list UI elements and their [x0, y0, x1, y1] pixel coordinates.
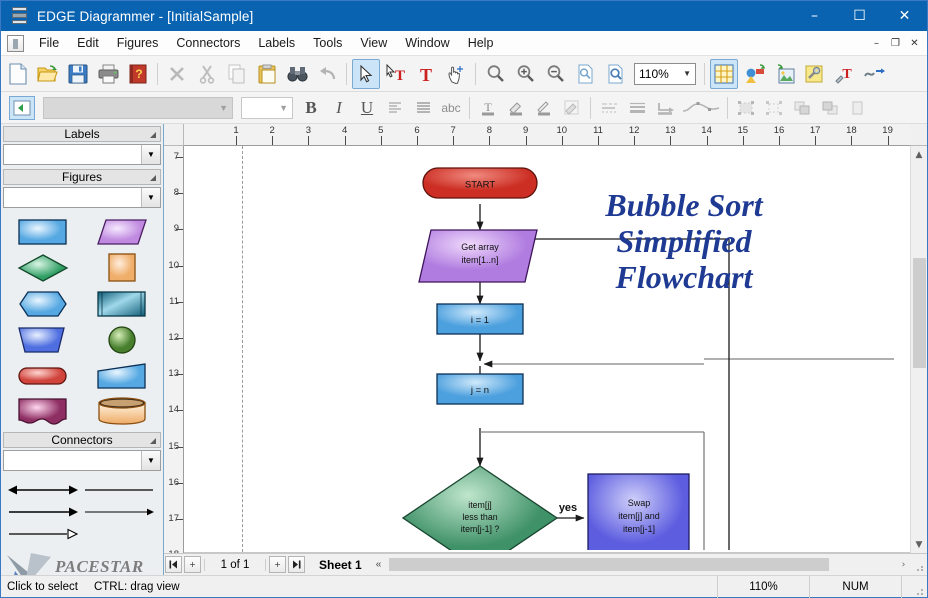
delete-icon[interactable]: [163, 59, 191, 89]
svg-text:Swap: Swap: [628, 498, 651, 508]
align-objects-icon[interactable]: [845, 95, 871, 121]
ruler-row: 1234567891011121314151617181920: [164, 124, 927, 146]
node-j-init: j = n: [437, 374, 523, 404]
flow-icon[interactable]: [860, 59, 888, 89]
pacestar-name: PACESTAR: [55, 557, 144, 577]
ungroup-icon[interactable]: [761, 95, 787, 121]
connector-open-arrow[interactable]: [7, 527, 83, 541]
send-back-icon[interactable]: [817, 95, 843, 121]
text-tool-icon[interactable]: T: [412, 59, 440, 89]
connector-thin-arrow[interactable]: [83, 505, 159, 519]
app-icon: [9, 5, 31, 27]
scroll-right-button[interactable]: ›: [896, 560, 911, 570]
connectors-panel-header[interactable]: Connectors: [3, 432, 161, 448]
figure-cylinder-orange[interactable]: [82, 394, 161, 430]
chevron-down-icon: ▼: [683, 69, 691, 78]
last-page-button[interactable]: [288, 556, 305, 573]
node-start: START: [423, 168, 537, 198]
print-icon[interactable]: [94, 59, 122, 89]
figure-rectangle-blue[interactable]: [3, 214, 82, 250]
back-icon[interactable]: [9, 96, 35, 120]
add-page-before-button[interactable]: +: [184, 556, 201, 573]
svg-text:item[1..n]: item[1..n]: [461, 255, 498, 265]
maximize-button[interactable]: ☐: [837, 1, 882, 31]
properties-icon[interactable]: [800, 59, 828, 89]
zoom-fit-icon[interactable]: [601, 59, 629, 89]
help-book-icon[interactable]: ?: [124, 59, 152, 89]
minimize-button[interactable]: –: [792, 1, 837, 31]
svg-text:j = n: j = n: [470, 385, 489, 396]
svg-text:T: T: [484, 100, 492, 114]
svg-text:?: ?: [135, 67, 142, 81]
zoom-icon[interactable]: [481, 59, 509, 89]
save-icon[interactable]: [64, 59, 92, 89]
figures-combo[interactable]: ▼: [3, 187, 161, 208]
close-button[interactable]: ✕: [882, 1, 927, 31]
diagram-title-line-2: Simplified: [534, 224, 834, 260]
toolbar-separator: [157, 63, 158, 85]
copy-icon[interactable]: [223, 59, 251, 89]
svg-text:T: T: [842, 67, 852, 82]
line-color-icon[interactable]: [531, 95, 557, 121]
align-left-icon[interactable]: [382, 95, 408, 121]
main-body: Labels ▼ Figures ▼: [1, 124, 927, 575]
color-combo[interactable]: ▼: [241, 97, 293, 119]
connectors-combo[interactable]: ▼: [3, 450, 161, 471]
labels-combo[interactable]: ▼: [3, 144, 161, 165]
find-icon[interactable]: [283, 59, 311, 89]
menu-help[interactable]: Help: [459, 33, 503, 53]
application-window: EDGE Diagrammer - [InitialSample] – ☐ ✕ …: [0, 0, 928, 598]
status-zoom: 110%: [717, 576, 809, 598]
page-count-label: 1 of 1: [204, 559, 266, 571]
svg-text:i = 1: i = 1: [471, 315, 489, 326]
figure-document-magenta[interactable]: [3, 394, 82, 430]
line-weight-icon[interactable]: [624, 95, 650, 121]
diagram-title[interactable]: Bubble Sort Simplified Flowchart: [534, 188, 834, 295]
figures-panel-header[interactable]: Figures: [3, 169, 161, 185]
toolbar-separator: [346, 63, 347, 85]
figure-hexagon-blue[interactable]: [3, 286, 82, 322]
figure-parallelogram-purple[interactable]: [82, 214, 161, 250]
palette-sidebar: Labels ▼ Figures ▼: [1, 124, 164, 575]
toolbar-separator: [727, 97, 728, 119]
toolbar-separator: [475, 63, 476, 85]
menu-tools[interactable]: Tools: [304, 33, 351, 53]
menu-edit[interactable]: Edit: [68, 33, 108, 53]
svg-text:item[j-1]: item[j-1]: [623, 524, 655, 534]
ruler-spacer: [910, 124, 927, 146]
canvas-area: 1234567891011121314151617181920 78910111…: [164, 124, 927, 575]
line-style-dashed-icon[interactable]: [596, 95, 622, 121]
horizontal-scrollbar[interactable]: ›: [389, 557, 911, 572]
diagram-title-line-1: Bubble Sort: [534, 188, 834, 224]
mdi-restore-button[interactable]: ❐: [887, 35, 904, 52]
fill-color-icon[interactable]: [503, 95, 529, 121]
curve-icon[interactable]: [680, 95, 722, 121]
connector-single-arrow[interactable]: [7, 505, 83, 519]
text-select-icon[interactable]: T: [382, 59, 410, 89]
undo-icon[interactable]: [313, 59, 341, 89]
svg-text:T: T: [420, 65, 432, 84]
zoom-page-icon[interactable]: [571, 59, 599, 89]
cut-icon[interactable]: [193, 59, 221, 89]
mdi-window-controls: – ❐ ✕: [866, 35, 927, 52]
svg-text:item[j]: item[j]: [468, 500, 491, 510]
svg-text:item[j-1] ?: item[j-1] ?: [461, 524, 500, 534]
menu-bar: File Edit Figures Connectors Labels Tool…: [1, 31, 927, 56]
select-pointer-icon[interactable]: [352, 59, 380, 89]
paste-icon[interactable]: [253, 59, 281, 89]
node-compare: item[j] less than item[j-1] ?: [403, 466, 557, 550]
figure-square-orange[interactable]: [82, 250, 161, 286]
italic-button[interactable]: I: [326, 95, 352, 121]
vertical-scroll-track[interactable]: [911, 163, 928, 536]
horizontal-ruler[interactable]: 1234567891011121314151617181920: [184, 124, 910, 146]
scroll-up-button[interactable]: ▲: [911, 146, 928, 163]
figure-slanted-rect-blue[interactable]: [82, 358, 161, 394]
align-justify-icon[interactable]: [410, 95, 436, 121]
canvas-row: 789101112131415161718: [164, 146, 927, 553]
open-icon[interactable]: [34, 59, 62, 89]
vertical-scroll-thumb[interactable]: [913, 258, 926, 368]
node-swap: Swap item[j] and item[j-1]: [588, 474, 689, 550]
chevron-down-icon: ▼: [219, 103, 228, 113]
svg-text:START: START: [465, 180, 495, 191]
style-combo[interactable]: ▼: [43, 97, 233, 119]
connector-row: [7, 523, 159, 545]
connector-double-arrow[interactable]: [7, 483, 83, 497]
bold-button[interactable]: B: [298, 95, 324, 121]
drag-view-icon[interactable]: [442, 59, 470, 89]
mdi-minimize-button[interactable]: –: [868, 35, 885, 52]
chevron-down-icon[interactable]: ▼: [141, 145, 160, 164]
window-title: EDGE Diagrammer - [InitialSample]: [37, 9, 253, 24]
mdi-close-button[interactable]: ✕: [906, 35, 923, 52]
zoom-out-icon[interactable]: [541, 59, 569, 89]
vertical-scrollbar[interactable]: ▲ ▼: [910, 146, 927, 553]
menu-window[interactable]: Window: [396, 33, 458, 53]
image-style-icon[interactable]: [770, 59, 798, 89]
figure-diamond-green[interactable]: [3, 250, 82, 286]
vertical-ruler[interactable]: 789101112131415161718: [164, 146, 184, 553]
shadow-icon[interactable]: [559, 95, 585, 121]
svg-text:less than: less than: [462, 512, 497, 522]
figure-rounded-bar-red[interactable]: [3, 358, 82, 394]
main-toolbar: ? T: [1, 56, 927, 92]
node-get-array: Get array item[1..n]: [419, 230, 537, 282]
color-swatch: [246, 99, 272, 117]
scroll-down-button[interactable]: ▼: [911, 536, 928, 553]
figure-trapezoid-blue[interactable]: [3, 322, 82, 358]
status-hint: CTRL: drag view: [78, 581, 180, 593]
menu-file[interactable]: File: [30, 33, 68, 53]
horizontal-scroll-thumb[interactable]: [389, 558, 829, 571]
zoom-in-icon[interactable]: [511, 59, 539, 89]
svg-text:item[j] and: item[j] and: [618, 511, 660, 521]
labels-panel-header[interactable]: Labels: [3, 126, 161, 142]
svg-text:Get array: Get array: [461, 242, 499, 252]
sheet-bar: + 1 of 1 + Sheet 1 « ›: [164, 553, 927, 575]
figures-palette: [1, 210, 163, 430]
add-page-after-button[interactable]: +: [269, 556, 286, 573]
toolbar-separator: [469, 97, 470, 119]
title-bar: EDGE Diagrammer - [InitialSample] – ☐ ✕: [1, 1, 927, 31]
new-icon[interactable]: [4, 59, 32, 89]
sheet-tab-sheet-1[interactable]: Sheet 1: [309, 557, 370, 573]
toolbar-separator: [590, 97, 591, 119]
text-color-icon[interactable]: T: [475, 95, 501, 121]
resize-grip[interactable]: [913, 558, 927, 572]
figure-box3d-teal[interactable]: [82, 286, 161, 322]
chevron-down-icon: ▼: [279, 103, 288, 113]
chevron-down-icon[interactable]: ▼: [141, 188, 160, 207]
underline-button[interactable]: U: [354, 95, 380, 121]
chevron-down-icon[interactable]: ▼: [141, 451, 160, 470]
window-controls: – ☐ ✕: [792, 1, 927, 31]
spellcheck-button[interactable]: abc: [438, 95, 464, 121]
svg-text:T: T: [395, 68, 405, 84]
status-resize-grip[interactable]: [901, 576, 927, 598]
document-icon: [7, 35, 24, 52]
ruler-corner[interactable]: [164, 124, 184, 146]
menu-figures[interactable]: Figures: [108, 33, 168, 53]
figure-circle-green[interactable]: [82, 322, 161, 358]
zoom-level-combo[interactable]: 110% ▼: [634, 63, 696, 85]
status-bar: Click to select CTRL: drag view 110% NUM: [1, 575, 927, 597]
status-num-lock: NUM: [809, 576, 901, 598]
zoom-level-value: 110%: [639, 67, 669, 81]
diagram-canvas[interactable]: START Get array item[1..n] i = 1: [184, 146, 910, 553]
bring-front-icon[interactable]: [789, 95, 815, 121]
menu-labels[interactable]: Labels: [249, 33, 304, 53]
text-properties-icon[interactable]: T: [830, 59, 858, 89]
node-i-init: i = 1: [437, 304, 523, 334]
status-message: Click to select: [1, 581, 78, 593]
diagram-title-line-3: Flowchart: [534, 260, 834, 296]
yes-label: yes: [559, 502, 577, 514]
grid-icon[interactable]: [710, 59, 738, 89]
first-page-button[interactable]: [165, 556, 182, 573]
connector-plain-line[interactable]: [83, 483, 159, 497]
figure-style-icon[interactable]: [740, 59, 768, 89]
arrow-style-icon[interactable]: [652, 95, 678, 121]
toolbar-separator: [704, 63, 705, 85]
tab-collapse-button[interactable]: «: [370, 559, 388, 570]
menu-connectors[interactable]: Connectors: [167, 33, 249, 53]
connector-row: [7, 479, 159, 501]
connectors-palette: [1, 473, 163, 545]
menu-view[interactable]: View: [351, 33, 396, 53]
format-toolbar: ▼ ▼ B I U abc T: [1, 92, 927, 124]
group-icon[interactable]: [733, 95, 759, 121]
connector-row: [7, 501, 159, 523]
